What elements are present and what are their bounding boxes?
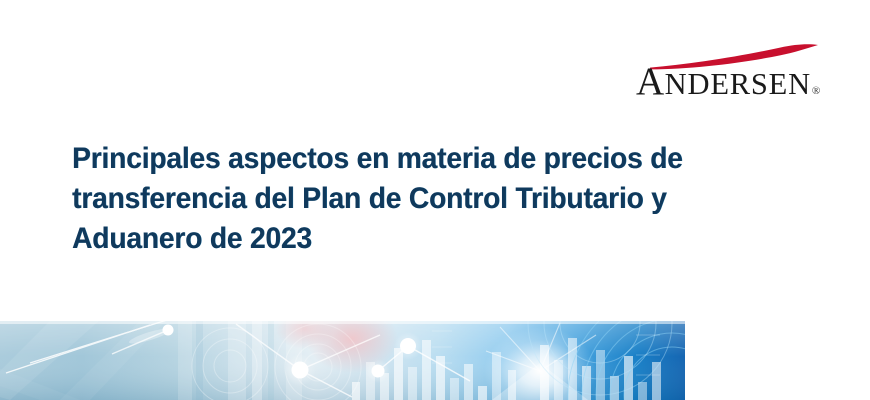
logo-letter-a: A	[636, 60, 665, 103]
banner-bar	[478, 386, 487, 400]
banner-bar	[422, 340, 431, 400]
banner-artwork	[0, 321, 685, 400]
banner-bar	[394, 348, 403, 400]
page-title-line-3: Aduanero de 2023	[72, 219, 730, 259]
banner-bar	[352, 382, 360, 400]
banner-bar	[450, 378, 459, 400]
page-title-line-1: Principales aspectos en materia de preci…	[72, 139, 730, 179]
registered-trademark-icon: ®	[812, 85, 820, 97]
page-title: Principales aspectos en materia de preci…	[72, 139, 730, 259]
page-title-line-2: transferencia del Plan de Control Tribut…	[72, 179, 730, 219]
banner-bar	[366, 362, 375, 400]
banner-bar	[596, 350, 605, 400]
logo-letters-rest: NDERSEN	[665, 67, 811, 101]
banner-bar	[610, 376, 619, 400]
andersen-wordmark: ANDERSEN®	[636, 62, 822, 101]
banner-bar	[380, 373, 389, 400]
andersen-logo: ANDERSEN®	[636, 44, 822, 106]
banner-bar	[464, 364, 473, 400]
hero-banner-image	[0, 321, 685, 400]
banner-bar	[638, 382, 647, 400]
banner-bar	[408, 367, 417, 400]
banner-bar	[624, 356, 633, 400]
document-page: ANDERSEN® Principales aspectos en materi…	[0, 0, 870, 400]
